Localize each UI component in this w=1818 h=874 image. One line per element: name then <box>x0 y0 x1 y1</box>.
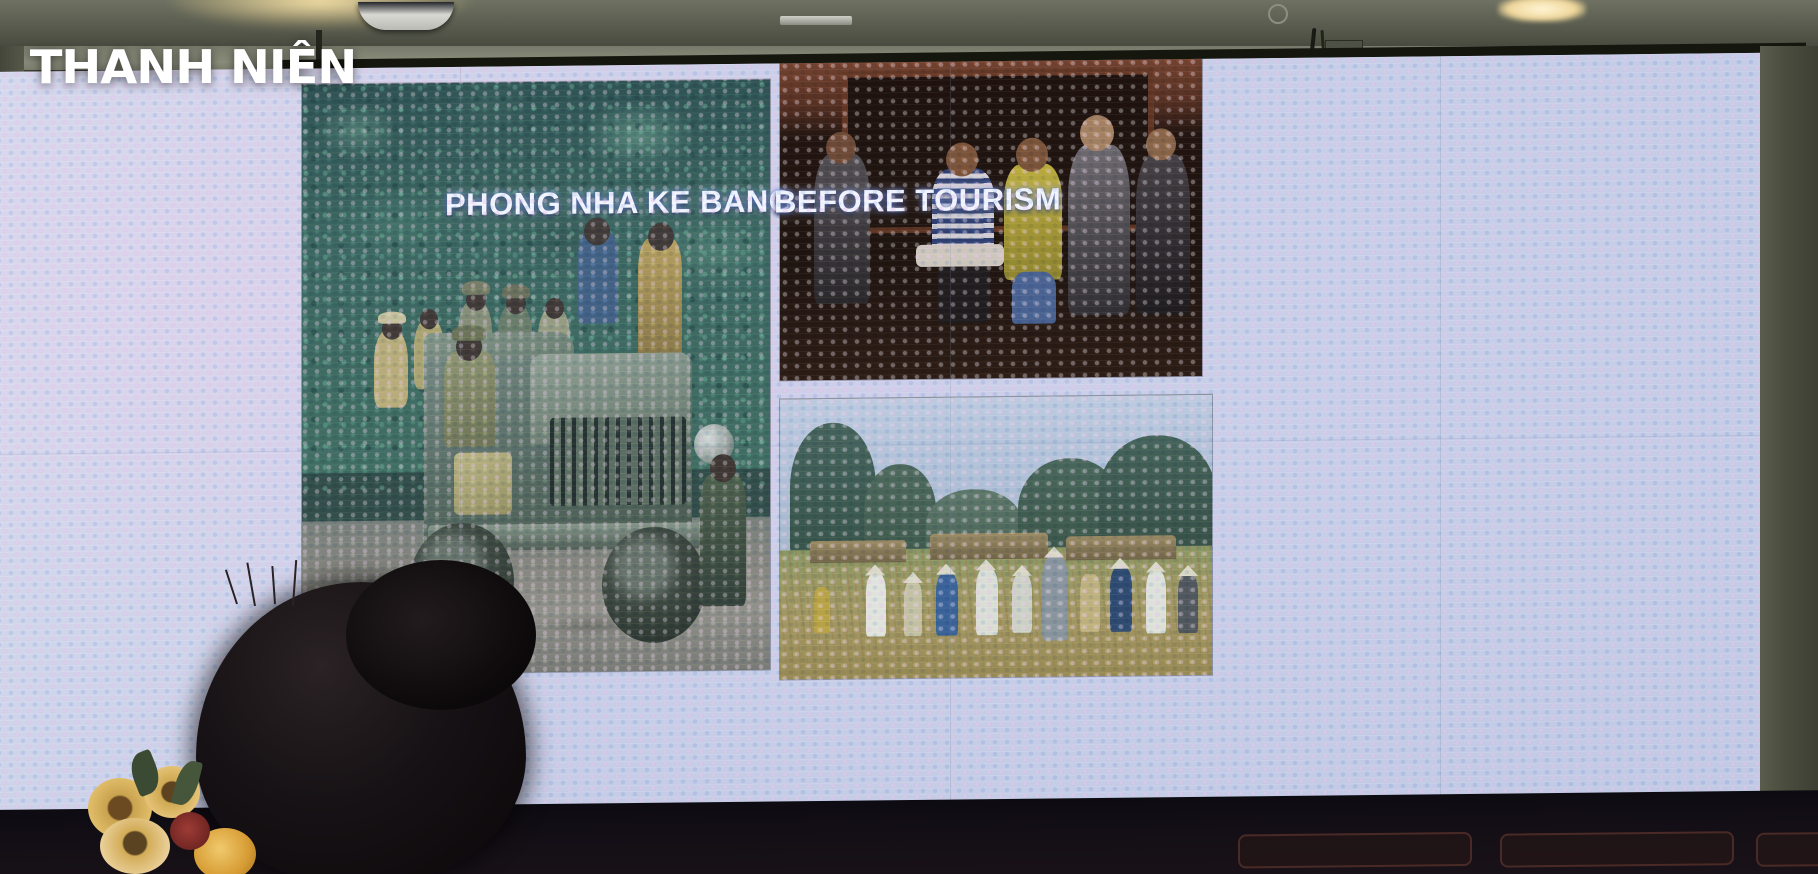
ceiling-vent-icon <box>780 16 852 25</box>
thanh-nien-watermark: THANH NIÊN <box>30 40 357 94</box>
ceiling-downlight-icon <box>1498 0 1586 22</box>
smoke-detector-icon <box>1268 4 1288 24</box>
flower-bouquet <box>84 700 284 874</box>
seat-back <box>1238 832 1472 869</box>
sunflower-icon <box>100 818 170 874</box>
seat-back <box>1500 831 1734 868</box>
ceiling-speaker-icon <box>358 2 454 30</box>
seat-back <box>1756 831 1818 867</box>
screenshot-stage: PHONG NHA KE BANG BEFORE TOURISM THANH N… <box>0 0 1818 874</box>
wall-right-edge <box>1760 46 1818 874</box>
rose-icon <box>170 812 210 850</box>
